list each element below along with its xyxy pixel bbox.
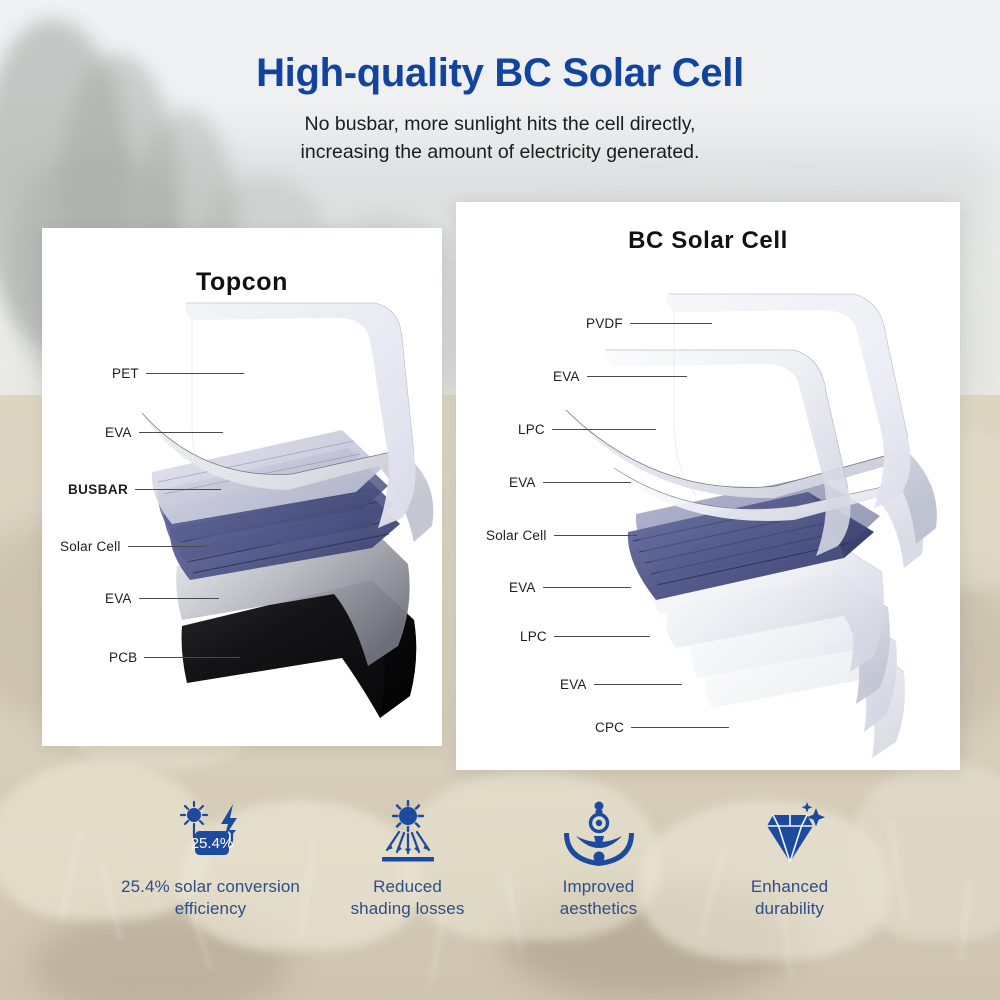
callout-leader-line (144, 657, 240, 658)
callout-leader-line (631, 727, 729, 728)
feature-label-line-2: durability (697, 898, 882, 920)
callout-label: PVDF (586, 316, 623, 331)
callout-pcb: PCB (109, 650, 240, 665)
subtitle-line-2: increasing the amount of electricity gen… (0, 139, 1000, 167)
callout-leader-line (594, 684, 682, 685)
callout-leader-line (139, 598, 219, 599)
callout-leader-line (135, 489, 221, 490)
callout-label: EVA (553, 369, 580, 384)
bc-solar-cell-diagram-panel: BC Solar Cell (456, 202, 960, 770)
callout-leader-line (128, 546, 206, 547)
callout-label: EVA (560, 677, 587, 692)
callout-pet: PET (112, 366, 244, 381)
callout-label: BUSBAR (68, 482, 128, 497)
callout-label: EVA (105, 425, 132, 440)
callout-pvdf: PVDF (586, 316, 712, 331)
callout-label: EVA (509, 475, 536, 490)
feature-label-line-1: Improved (563, 877, 635, 896)
callout-solar-cell: Solar Cell (60, 539, 206, 554)
callout-leader-line (543, 482, 631, 483)
callout-label: EVA (509, 580, 536, 595)
aesthetics-compass-icon (506, 800, 691, 872)
page-title: High-quality BC Solar Cell (0, 52, 1000, 94)
diamond-sparkle-icon (697, 800, 882, 872)
callout-label: Solar Cell (486, 528, 547, 543)
solar-panel-efficiency-icon: 25.4% (118, 800, 303, 872)
feature-shading: Reduced shading losses (315, 800, 500, 920)
sun-rays-shading-icon (315, 800, 500, 872)
feature-label-line-2: aesthetics (506, 898, 691, 920)
feature-label-line-2: efficiency (118, 898, 303, 920)
feature-label: Improved aesthetics (506, 876, 691, 920)
subtitle-line-1: No busbar, more sunlight hits the cell d… (305, 113, 696, 135)
callout-leader-line (139, 432, 223, 433)
callout-label: CPC (595, 720, 624, 735)
topcon-diagram-panel: Topcon (42, 228, 442, 746)
callout-leader-line (587, 376, 687, 377)
callout-label: Solar Cell (60, 539, 121, 554)
callout-solar-cell: Solar Cell (486, 528, 637, 543)
feature-label-line-1: Reduced (373, 877, 442, 896)
callout-lpc-1: LPC (518, 422, 656, 437)
callout-leader-line (552, 429, 656, 430)
callout-lpc-2: LPC (520, 629, 650, 644)
feature-label: Enhanced durability (697, 876, 882, 920)
callout-leader-line (554, 636, 650, 637)
feature-label: Reduced shading losses (315, 876, 500, 920)
callout-label: LPC (520, 629, 547, 644)
callout-busbar: BUSBAR (68, 482, 221, 497)
feature-label-line-1: Enhanced (751, 877, 828, 896)
callout-cpc: CPC (595, 720, 729, 735)
feature-durability: Enhanced durability (697, 800, 882, 920)
feature-label: 25.4% solar conversion efficiency (118, 876, 303, 920)
callout-label: EVA (105, 591, 132, 606)
callout-label: PCB (109, 650, 137, 665)
feature-highlights: 25.4% 25.4% solar conversion efficiency (0, 800, 1000, 960)
feature-aesthetics: Improved aesthetics (506, 800, 691, 920)
callout-leader-line (554, 535, 637, 536)
callout-eva-bottom: EVA (105, 591, 219, 606)
callout-eva-3: EVA (509, 580, 631, 595)
callout-eva-4: EVA (560, 677, 682, 692)
callout-label: LPC (518, 422, 545, 437)
efficiency-badge-value: 25.4% (190, 835, 233, 852)
callout-leader-line (543, 587, 631, 588)
callout-eva-2: EVA (509, 475, 631, 490)
callout-label: PET (112, 366, 139, 381)
header: High-quality BC Solar Cell No busbar, mo… (0, 0, 1000, 166)
callout-leader-line (146, 373, 244, 374)
page-subtitle: No busbar, more sunlight hits the cell d… (0, 111, 1000, 166)
callout-eva-top: EVA (105, 425, 223, 440)
feature-label-line-1: 25.4% solar conversion (121, 877, 300, 896)
callout-eva-1: EVA (553, 369, 687, 384)
callout-leader-line (630, 323, 712, 324)
feature-efficiency: 25.4% 25.4% solar conversion efficiency (118, 800, 303, 920)
feature-label-line-2: shading losses (315, 898, 500, 920)
